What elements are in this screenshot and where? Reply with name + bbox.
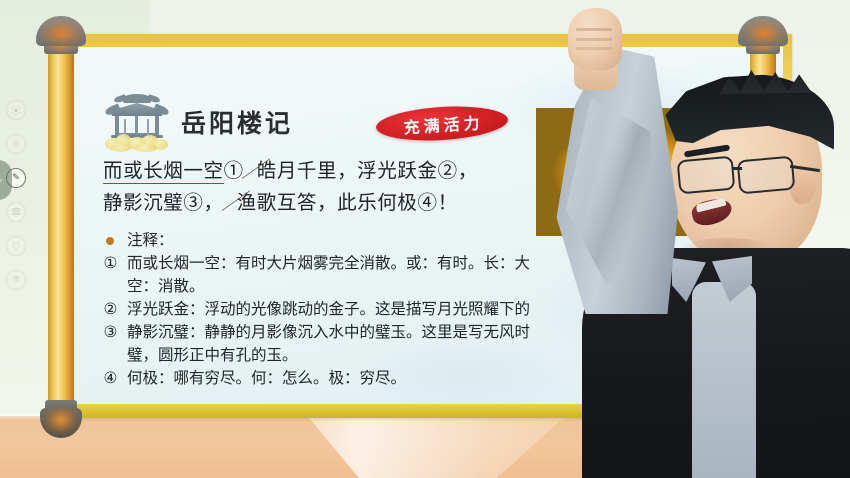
note-text-4: 何极：哪有穷尽。何：怎么。极：穷尽。 xyxy=(127,367,406,390)
cloud-decoration xyxy=(103,133,171,151)
note-text-1-cont: 空：消散。 xyxy=(101,275,205,298)
instructor-shirt xyxy=(692,282,756,478)
raised-fist-icon xyxy=(568,8,622,70)
page-title: 岳阳楼记 xyxy=(181,104,293,149)
notes-heading: 注释： xyxy=(127,229,174,252)
camera-icon[interactable]: ◎ xyxy=(6,134,26,154)
note-text-2: 浮光跃金：浮动的光像跳动的金子。这是描写月光照耀下的 xyxy=(127,298,530,321)
eraser-icon[interactable]: ▨ xyxy=(6,202,26,222)
instructor-video-overlay xyxy=(520,0,850,478)
passage-ref-4: ④ xyxy=(418,191,438,214)
settings-glyph: ❊ xyxy=(12,275,20,285)
pen-glyph: ✎ xyxy=(12,173,20,183)
passage-text-1c: ， xyxy=(458,159,478,182)
note-marker-3: ③ xyxy=(101,321,120,344)
passage-text-2c: 渔歌互答，此乐何极 xyxy=(237,191,418,214)
passage-text-1b: 皓月千里，浮光跃金 xyxy=(257,159,438,182)
eraser-glyph: ▨ xyxy=(12,207,21,217)
note-text-3: 静影沉璧：静静的月影像沉入水中的璧玉。这里是写无风时 xyxy=(127,321,530,344)
note-text-3-cont: 璧，圆形正中有孔的玉。 xyxy=(101,344,298,367)
shapes-icon[interactable]: ◌ xyxy=(6,236,26,256)
passage-text-2d: ！ xyxy=(438,191,458,214)
shapes-glyph: ◌ xyxy=(12,241,20,251)
passage-ref-2: ② xyxy=(438,159,458,182)
lesson-title-row: 岳阳楼记 xyxy=(107,93,293,149)
bullet-icon xyxy=(101,229,120,252)
camera-glyph: ◎ xyxy=(12,139,20,149)
pavilion-icon xyxy=(107,93,167,149)
slide-stage: ‹ ⦿ ◎ ✎ ▨ ◌ ❊ xyxy=(0,0,850,478)
passage-ref-3: ③ xyxy=(183,191,203,214)
passage-text-2a: 静影沉璧 xyxy=(103,191,183,214)
note-marker-4: ④ xyxy=(101,367,120,390)
settings-icon[interactable]: ❊ xyxy=(6,270,26,290)
passage-underlined-1: 而或长烟一空 xyxy=(103,159,224,184)
note-marker-2: ② xyxy=(101,298,120,321)
note-marker-1: ① xyxy=(101,252,120,275)
chevron-left-icon: ‹ xyxy=(0,175,3,186)
status-badge-label: 充满活力 xyxy=(400,109,484,138)
eyeglasses-icon xyxy=(676,158,812,192)
record-glyph: ⦿ xyxy=(11,104,20,117)
record-icon[interactable]: ⦿ xyxy=(6,100,26,120)
scroll-roller-left xyxy=(48,8,74,442)
note-text-1: 而或长烟一空：有时大片烟雾完全消散。或：有时。长：大 xyxy=(127,252,530,275)
